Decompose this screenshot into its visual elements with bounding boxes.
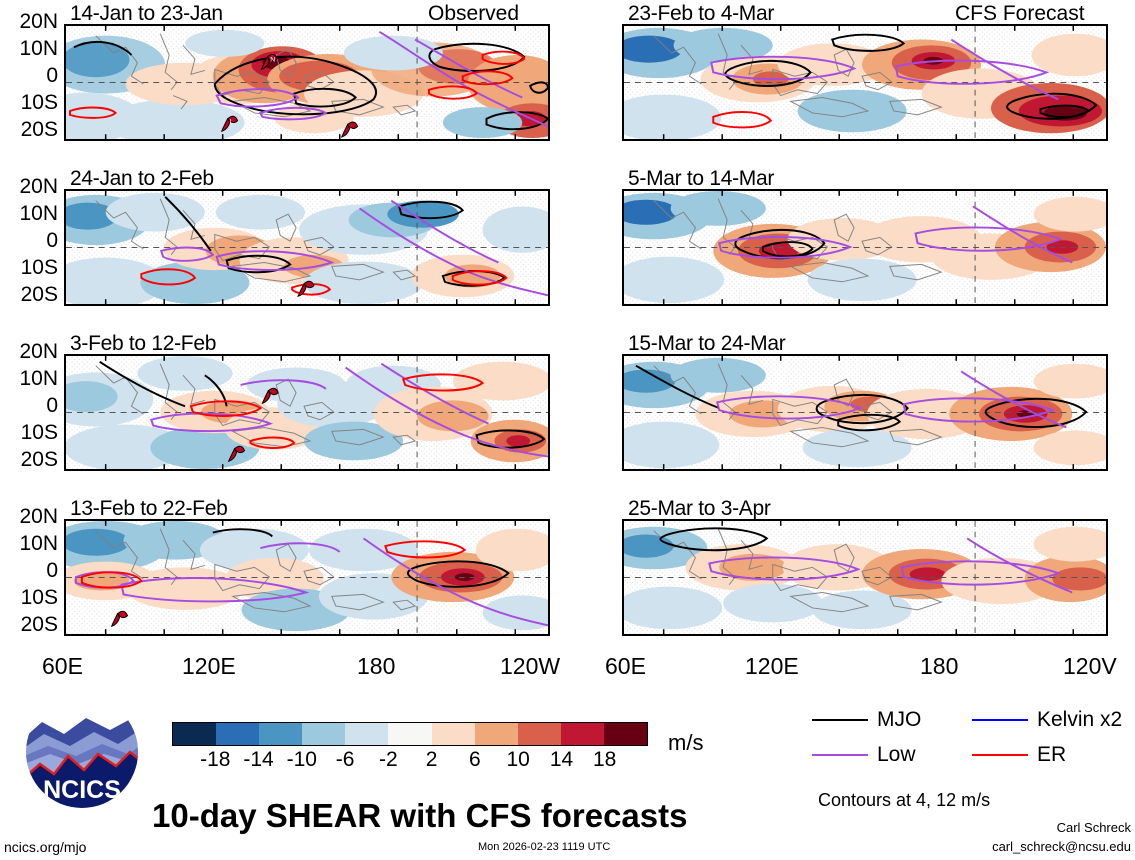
legend-line-low-icon <box>812 754 868 756</box>
y-tick-20n-r2: 20N <box>0 175 58 199</box>
colorbar-tick-2: -10 <box>287 748 317 772</box>
x-tick-120w-right: 120V <box>1063 653 1117 680</box>
column-header-observed: Observed <box>428 2 519 26</box>
colorbar-segment-1 <box>216 723 259 745</box>
colorbar-segment-6 <box>432 723 475 745</box>
y-tick-10n-r2: 10N <box>0 202 58 226</box>
map-panel-p6[interactable] <box>622 189 1108 306</box>
contour-legend: MJO Kelvin x2 Low ER <box>812 708 1132 778</box>
legend-label-er: ER <box>1037 743 1066 767</box>
site-url[interactable]: ncics.org/mjo <box>4 839 86 855</box>
map-panel-p1[interactable]: N L <box>64 24 550 141</box>
x-tick-180-right: 180 <box>920 653 958 680</box>
colorbar-segment-4 <box>345 723 388 745</box>
panel-title-p1: 14-Jan to 23-Jan <box>70 2 223 26</box>
figure-root: 20N 10N 0 10S 20S 20N 10N 0 10S 20S 20N … <box>0 0 1135 860</box>
colorbar-tick-8: 14 <box>550 748 573 772</box>
colorbar-tick-4: -2 <box>379 748 398 772</box>
y-tick-0-r1: 0 <box>0 64 58 88</box>
y-tick-20n-r4: 20N <box>0 505 58 529</box>
contour-note: Contours at 4, 12 m/s <box>818 790 990 811</box>
x-tick-180-left: 180 <box>357 653 395 680</box>
author-name: Carl Schreck <box>1057 820 1131 835</box>
panel-title-p4: 13-Feb to 22-Feb <box>70 497 227 521</box>
y-tick-0-r2: 0 <box>0 229 58 253</box>
colorbar-tick-5: 2 <box>426 748 438 772</box>
x-tick-120e-left: 120E <box>182 653 236 680</box>
y-tick-10n-r4: 10N <box>0 532 58 556</box>
colorbar-segment-3 <box>302 723 345 745</box>
colorbar-segment-5 <box>388 723 431 745</box>
y-tick-10s-r1: 10S <box>0 91 58 115</box>
y-tick-10s-r4: 10S <box>0 586 58 610</box>
map-panel-p8[interactable] <box>622 519 1108 636</box>
x-tick-60e-left: 60E <box>42 653 83 680</box>
colorbar-segment-2 <box>259 723 302 745</box>
map-panel-p5[interactable] <box>622 24 1108 141</box>
legend-item-mjo: MJO <box>812 708 972 732</box>
colorbar-strip <box>172 722 648 746</box>
colorbar-segment-7 <box>475 723 518 745</box>
colorbar-tick-1: -14 <box>243 748 273 772</box>
y-tick-20s-r3: 20S <box>0 448 58 472</box>
map-panel-p4[interactable] <box>64 519 550 636</box>
colorbar-tick-3: -6 <box>336 748 355 772</box>
y-tick-20n-r3: 20N <box>0 340 58 364</box>
legend-line-mjo-icon <box>812 719 868 721</box>
ncics-logo: NCICS <box>24 694 140 810</box>
y-tick-10s-r2: 10S <box>0 256 58 280</box>
y-tick-10n-r3: 10N <box>0 367 58 391</box>
main-title: 10-day SHEAR with CFS forecasts <box>152 797 687 835</box>
y-tick-20s-r1: 20S <box>0 118 58 142</box>
map-panel-p3[interactable] <box>64 354 550 471</box>
panel-title-p5: 23-Feb to 4-Mar <box>628 2 774 26</box>
colorbar-segment-9 <box>561 723 604 745</box>
colorbar: -18 -14 -10 -6 -2 2 6 10 14 18 <box>172 722 648 774</box>
legend-row-2: Low ER <box>812 743 1132 767</box>
colorbar-segment-10 <box>604 723 647 745</box>
panel-title-p2: 24-Jan to 2-Feb <box>70 167 214 191</box>
author-email[interactable]: carl_schreck@ncsu.edu <box>992 839 1131 854</box>
x-tick-60e-right: 60E <box>605 653 646 680</box>
y-tick-20s-r4: 20S <box>0 613 58 637</box>
legend-item-kelvin: Kelvin x2 <box>972 708 1132 732</box>
x-tick-120w-left: 120W <box>500 653 560 680</box>
timestamp: Mon 2026-02-23 1119 UTC <box>478 841 610 853</box>
map-panel-p7[interactable] <box>622 354 1108 471</box>
y-tick-20n-r1: 20N <box>0 10 58 34</box>
legend-label-mjo: MJO <box>877 708 921 732</box>
legend-item-er: ER <box>972 743 1132 767</box>
colorbar-tick-9: 18 <box>593 748 616 772</box>
colorbar-unit-label: m/s <box>668 730 703 756</box>
colorbar-tick-6: 6 <box>469 748 481 772</box>
column-header-cfs-forecast: CFS Forecast <box>955 2 1085 26</box>
logo-text: NCICS <box>43 776 121 804</box>
colorbar-ticks: -18 -14 -10 -6 -2 2 6 10 14 18 <box>172 748 648 774</box>
colorbar-tick-7: 10 <box>507 748 530 772</box>
panel-title-p6: 5-Mar to 14-Mar <box>628 167 774 191</box>
legend-item-low: Low <box>812 743 972 767</box>
y-tick-20s-r2: 20S <box>0 283 58 307</box>
svg-text:L: L <box>230 119 234 126</box>
legend-line-kelvin-icon <box>972 719 1028 721</box>
y-tick-10s-r3: 10S <box>0 421 58 445</box>
panel-title-p7: 15-Mar to 24-Mar <box>628 332 785 356</box>
colorbar-segment-0 <box>173 723 216 745</box>
legend-label-low: Low <box>877 743 916 767</box>
legend-row-1: MJO Kelvin x2 <box>812 708 1132 732</box>
y-tick-0-r4: 0 <box>0 559 58 583</box>
legend-label-kelvin: Kelvin x2 <box>1037 708 1122 732</box>
y-tick-0-r3: 0 <box>0 394 58 418</box>
y-tick-10n-r1: 10N <box>0 37 58 61</box>
map-panel-p2[interactable] <box>64 189 550 306</box>
svg-text:N: N <box>270 57 275 64</box>
x-tick-120e-right: 120E <box>745 653 799 680</box>
legend-line-er-icon <box>972 754 1028 756</box>
colorbar-tick-0: -18 <box>200 748 230 772</box>
panel-title-p8: 25-Mar to 3-Apr <box>628 497 771 521</box>
panel-title-p3: 3-Feb to 12-Feb <box>70 332 216 356</box>
colorbar-segment-8 <box>518 723 561 745</box>
